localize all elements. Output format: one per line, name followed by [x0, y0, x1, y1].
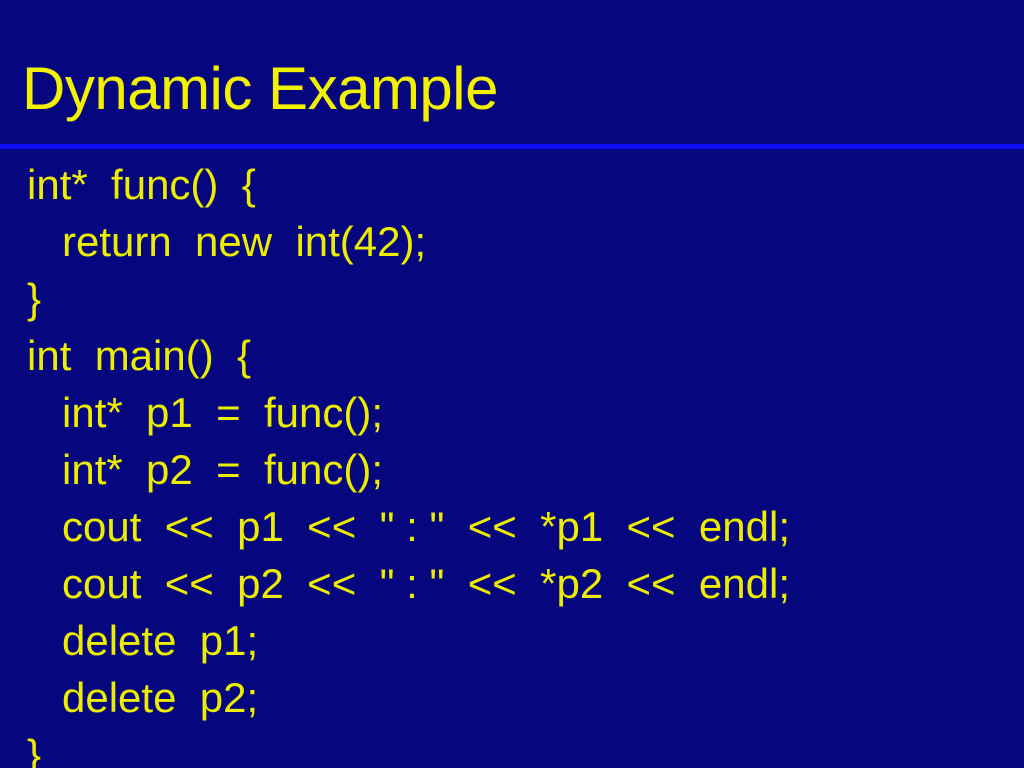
code-line: cout << p2 << " : " << *p2 << endl; — [0, 555, 1024, 612]
slide: Dynamic Example int* func() { return new… — [0, 0, 1024, 768]
code-line: cout << p1 << " : " << *p1 << endl; — [0, 498, 1024, 555]
code-line: int* p2 = func(); — [0, 441, 1024, 498]
code-block: int* func() { return new int(42); } int … — [0, 156, 1024, 768]
code-line: delete p2; — [0, 669, 1024, 726]
code-line: return new int(42); — [0, 213, 1024, 270]
title-divider — [0, 144, 1024, 149]
code-line: int* func() { — [0, 156, 1024, 213]
code-line: delete p1; — [0, 612, 1024, 669]
page-title: Dynamic Example — [22, 52, 498, 126]
code-line: int main() { — [0, 327, 1024, 384]
code-line: } — [0, 726, 1024, 768]
code-line: } — [0, 270, 1024, 327]
code-line: int* p1 = func(); — [0, 384, 1024, 441]
